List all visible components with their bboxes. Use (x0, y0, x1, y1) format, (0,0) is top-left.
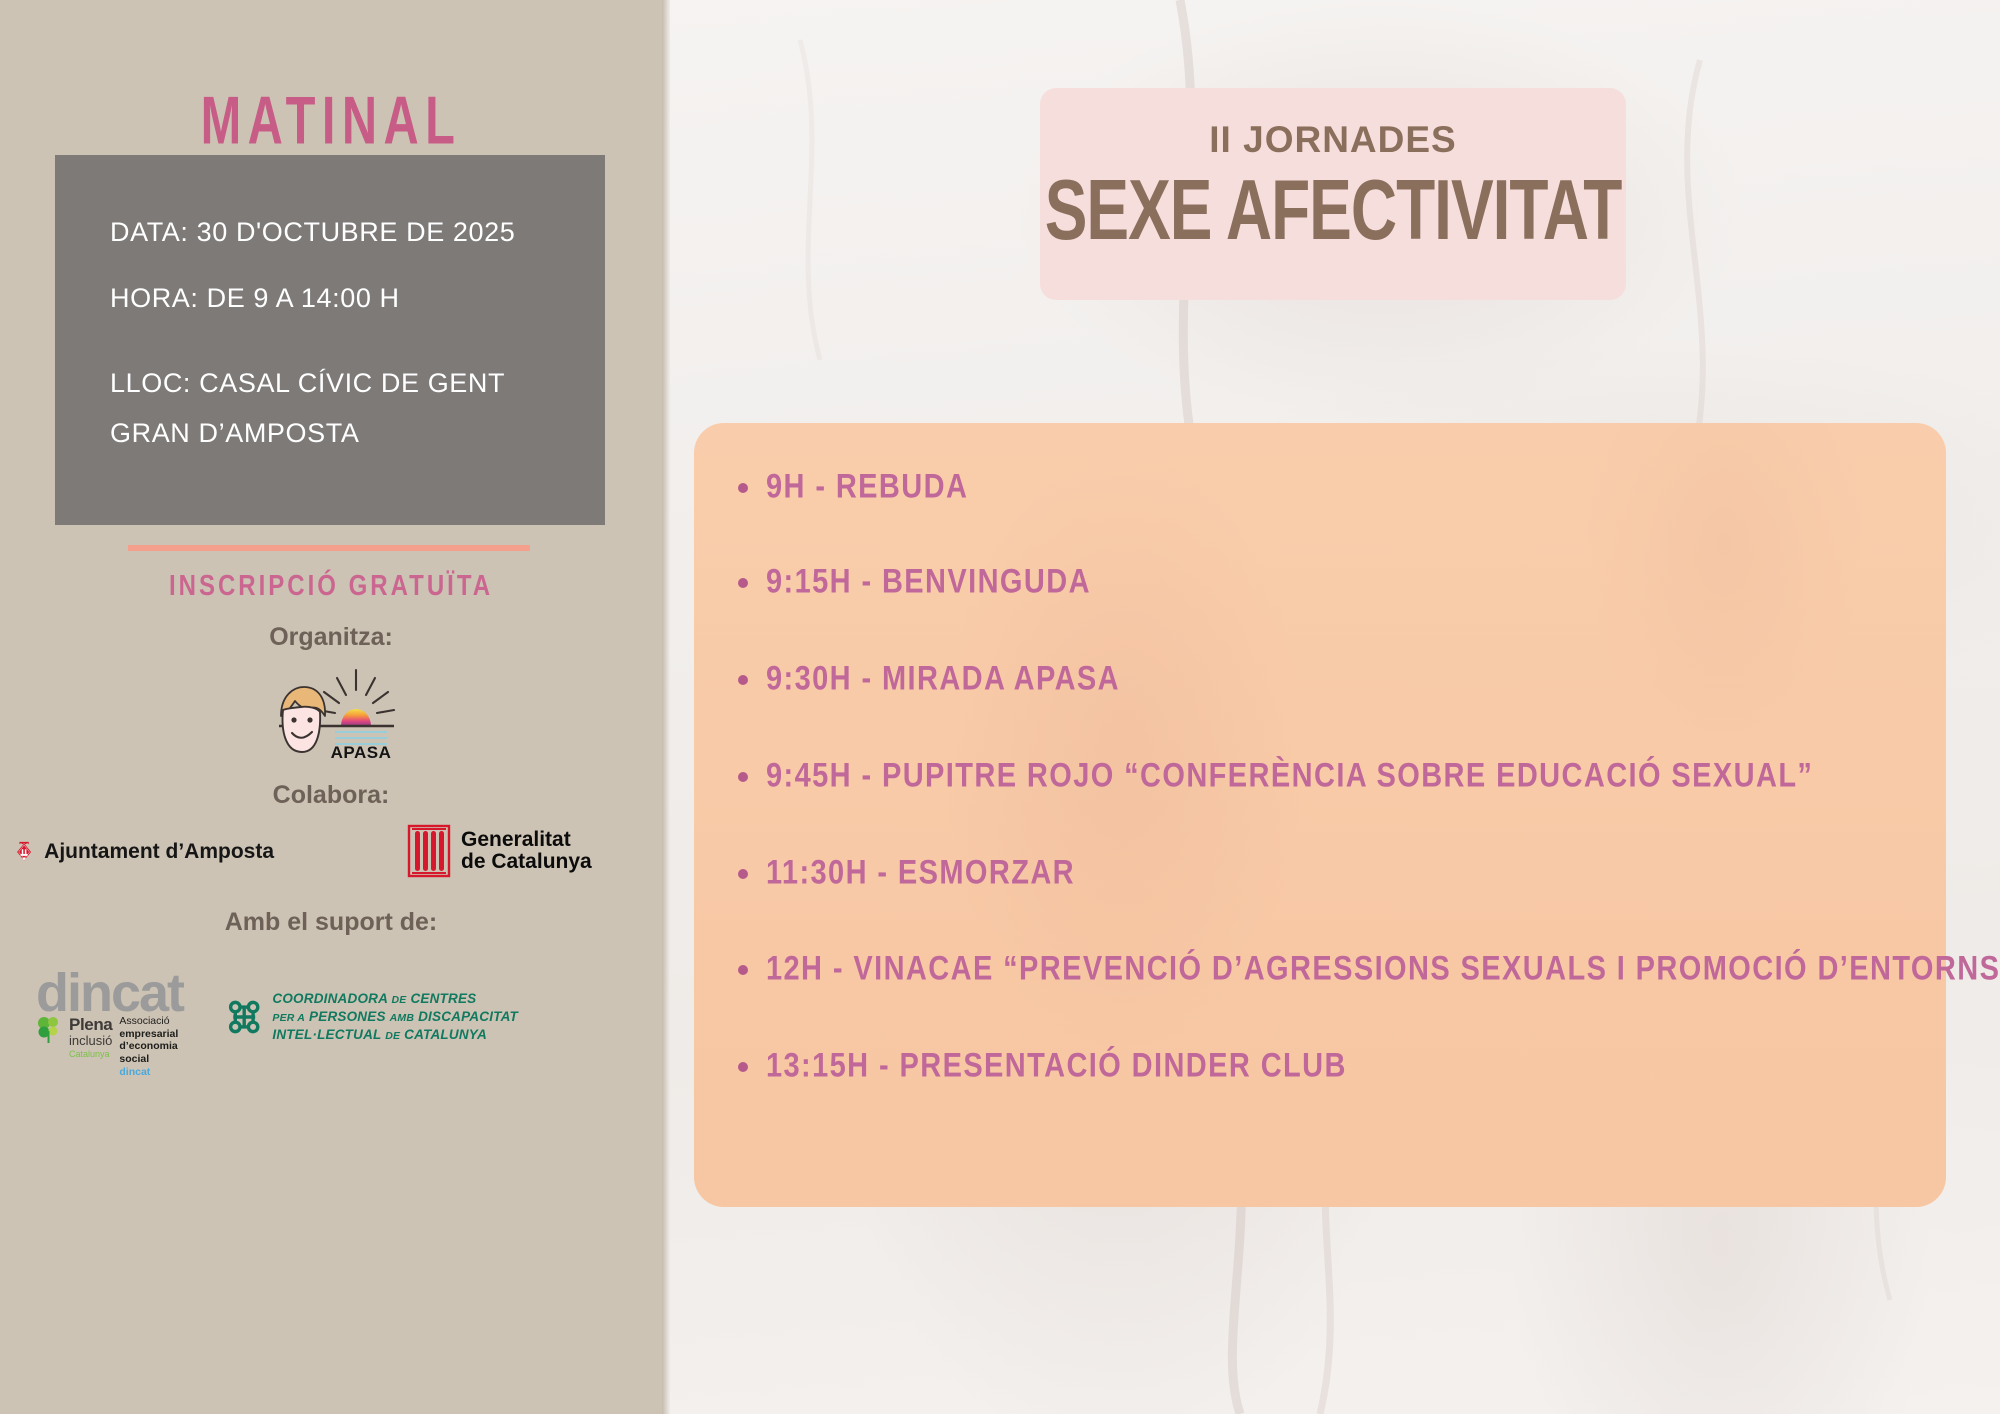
plena-inclusio-block: Plena inclusió Catalunya (69, 1015, 112, 1078)
event-date: DATA: 30 D'OCTUBRE DE 2025 (110, 217, 515, 248)
dincat-wordmark: dincat (36, 968, 221, 1019)
agenda-item: 11:30H - ESMORZAR (738, 857, 1075, 890)
dincat-assoc-block: Associació empresarial d’economia social… (119, 1015, 178, 1078)
apasa-logo-text: APASA (331, 743, 392, 760)
agenda-panel: 9H - REBUDA 9:15H - BENVINGUDA 9:30H - M… (694, 423, 1946, 1207)
logo-ajuntament-amposta: Ajuntament d’Amposta (14, 824, 274, 880)
assoc-line2: empresarial (119, 1028, 178, 1040)
agenda-item: 9:15H - BENVINGUDA (738, 566, 1091, 599)
bullet-dot-icon (738, 1062, 748, 1072)
bullet-dot-icon (738, 675, 748, 685)
event-place-line1: LLOC: CASAL CÍVIC DE GENT (110, 368, 505, 399)
assoc-line4: social (119, 1053, 149, 1065)
panel-edge-divider (662, 0, 670, 1414)
page-title-matinal: MATINAL (26, 82, 635, 160)
logo-coordinadora-centres: COORDINADORA DE CENTRES PER A PERSONES A… (228, 972, 518, 1062)
registration-note: INSCRIPCIÓ GRATUÏTA (0, 570, 662, 603)
title-banner: II JORNADES SEXE AFECTIVITAT (1040, 88, 1626, 300)
agenda-item-label: 9:45H - PUPITRE ROJO “CONFERÈNCIA SOBRE … (766, 757, 1813, 796)
bullet-dot-icon (738, 483, 748, 493)
event-time: HORA: DE 9 A 14:00 H (110, 283, 400, 314)
plena-line3: Catalunya (69, 1049, 112, 1059)
coord-l2c: AMB (390, 1012, 415, 1024)
bullet-dot-icon (738, 965, 748, 975)
assoc-line3: d’economia (119, 1040, 177, 1052)
assoc-line5: dincat (119, 1066, 178, 1079)
agenda-item: 9H - REBUDA (738, 471, 968, 504)
agenda-item-label: 12H - VINACAE “PREVENCIÓ D’AGRESSIONS SE… (766, 950, 2000, 989)
plena-inclusio-clover-icon (36, 1015, 62, 1045)
agenda-item-label: 11:30H - ESMORZAR (766, 854, 1075, 893)
coord-l2d: DISCAPACITAT (418, 1009, 518, 1024)
coordinadora-knot-icon (228, 984, 260, 1050)
ajuntament-label: Ajuntament d’Amposta (44, 840, 274, 864)
apasa-logo: APASA (251, 668, 411, 760)
banner-subtitle: II JORNADES (1040, 119, 1626, 161)
agenda-list: 9H - REBUDA 9:15H - BENVINGUDA 9:30H - M… (694, 423, 1946, 1207)
generalitat-line2: de Catalunya (461, 850, 592, 873)
plena-line2: inclusió (69, 1034, 112, 1049)
agenda-item-label: 9:15H - BENVINGUDA (766, 563, 1091, 602)
agenda-item-label: 13:15H - PRESENTACIÓ DINDER CLUB (766, 1047, 1347, 1086)
coord-l3a: INTEL·LECTUAL (272, 1027, 381, 1042)
assoc-line1: Associació (119, 1015, 178, 1028)
agenda-item-label: 9H - REBUDA (766, 468, 968, 507)
label-amb-el-suport: Amb el suport de: (0, 908, 662, 937)
plena-line1: Plena (69, 1015, 112, 1034)
divider-rule (128, 545, 530, 551)
label-colabora: Colabora: (0, 781, 662, 810)
coord-l3b: DE (385, 1030, 400, 1042)
event-info-box: DATA: 30 D'OCTUBRE DE 2025 HORA: DE 9 A … (55, 155, 605, 525)
bullet-dot-icon (738, 578, 748, 588)
banner-title: SEXE AFECTIVITAT (1040, 160, 1626, 259)
agenda-item: 13:15H - PRESENTACIÓ DINDER CLUB (738, 1050, 1347, 1083)
bullet-dot-icon (738, 772, 748, 782)
coord-l1a: COORDINADORA (272, 991, 387, 1006)
coord-l2a: PER A (272, 1012, 305, 1024)
poster-canvas: MATINAL DATA: 30 D'OCTUBRE DE 2025 HORA:… (0, 0, 2000, 1414)
ajuntament-crest-icon (14, 824, 34, 880)
logo-generalitat-catalunya: Generalitat de Catalunya (406, 822, 616, 880)
agenda-item-label: 9:30H - MIRADA APASA (766, 660, 1120, 699)
agenda-item: 9:30H - MIRADA APASA (738, 663, 1120, 696)
agenda-item: 12H - VINACAE “PREVENCIÓ D’AGRESSIONS SE… (738, 953, 2000, 986)
coord-l1b: DE (392, 994, 407, 1006)
agenda-item: 9:45H - PUPITRE ROJO “CONFERÈNCIA SOBRE … (738, 760, 1813, 793)
bullet-dot-icon (738, 869, 748, 879)
generalitat-shield-icon (406, 823, 452, 879)
logo-dincat: dincat Plena inclusió Catalunya Associac… (36, 968, 221, 1068)
label-organitza: Organitza: (0, 623, 662, 652)
event-place-line2: GRAN D’AMPOSTA (110, 418, 359, 449)
coord-l1c: CENTRES (410, 991, 476, 1006)
coordinadora-text: COORDINADORA DE CENTRES PER A PERSONES A… (272, 990, 518, 1045)
coord-l2b: PERSONES (309, 1009, 386, 1024)
coord-l3c: CATALUNYA (404, 1027, 487, 1042)
generalitat-label: Generalitat de Catalunya (461, 829, 592, 873)
generalitat-line1: Generalitat (461, 828, 571, 851)
